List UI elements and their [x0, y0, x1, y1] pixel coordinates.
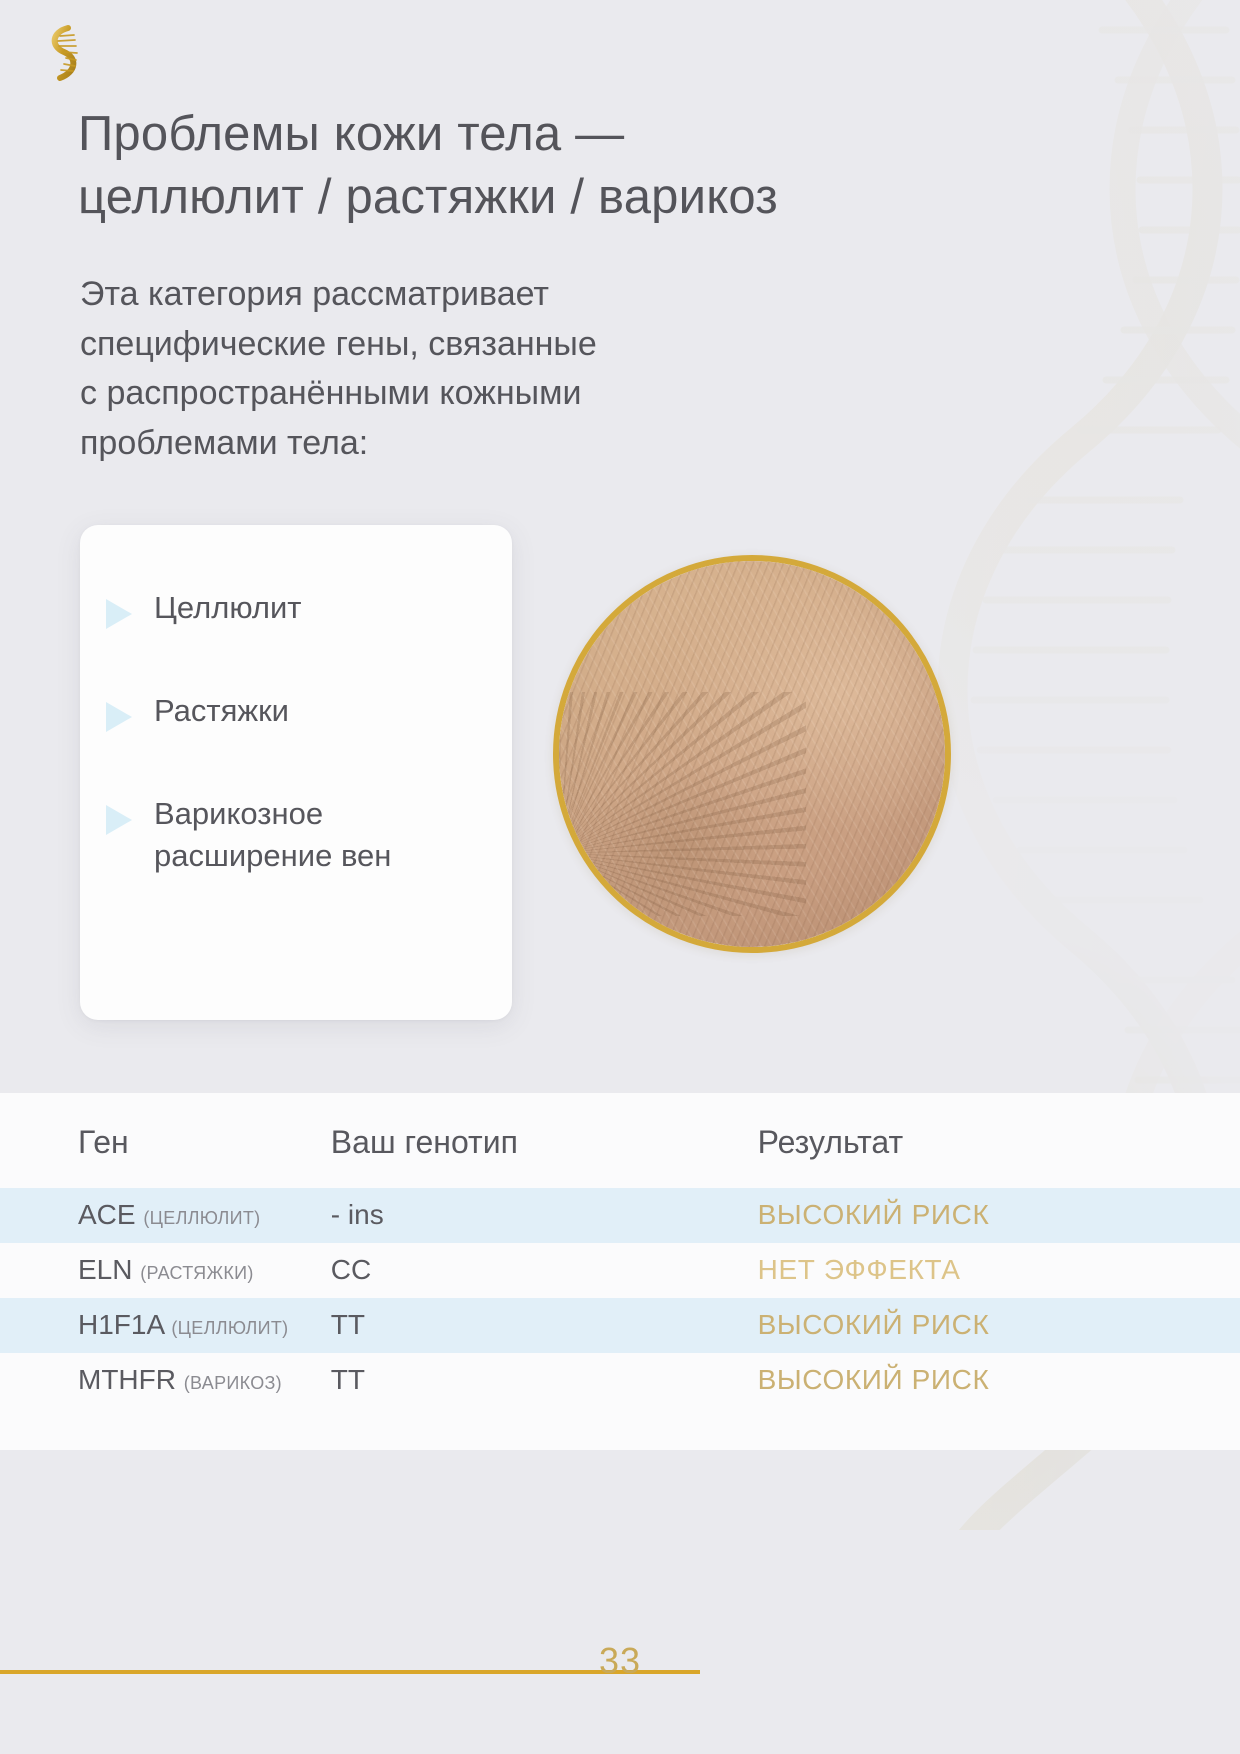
gene-note: (ВАРИКОЗ): [184, 1373, 282, 1393]
table-header-row: Ген Ваш генотип Результат: [0, 1093, 1240, 1188]
cell-gene: MTHFR (ВАРИКОЗ): [0, 1353, 331, 1408]
conditions-card: Целлюлит Растяжки Варикозное расширение …: [80, 525, 512, 1020]
result-badge: ВЫСОКИЙ РИСК: [758, 1309, 990, 1340]
table-row: ACE (ЦЕЛЛЮЛИТ) - ins ВЫСОКИЙ РИСК: [0, 1188, 1240, 1243]
intro-line-3: с распространёнными кожными: [80, 374, 581, 412]
result-badge: ВЫСОКИЙ РИСК: [758, 1199, 990, 1230]
list-item: Варикозное расширение вен: [106, 793, 478, 879]
cell-gene: H1F1A (ЦЕЛЛЮЛИТ): [0, 1298, 331, 1353]
gene-name: ACE: [78, 1199, 136, 1230]
cell-genotype: - ins: [331, 1188, 758, 1243]
page-number: 33: [0, 1640, 1240, 1682]
gene-name: MTHFR: [78, 1364, 176, 1395]
gene-note: (ЦЕЛЛЮЛИТ): [171, 1318, 288, 1338]
intro-line-1: Эта категория рассматривает: [80, 275, 549, 313]
result-badge: ВЫСОКИЙ РИСК: [758, 1364, 990, 1395]
gene-results-table: Ген Ваш генотип Результат ACE (ЦЕЛЛЮЛИТ)…: [0, 1093, 1240, 1408]
photo-vignette: [559, 561, 945, 947]
gene-note: (РАСТЯЖКИ): [140, 1263, 253, 1283]
cell-gene: ACE (ЦЕЛЛЮЛИТ): [0, 1188, 331, 1243]
list-item: Растяжки: [106, 690, 478, 733]
list-item-label: Варикозное расширение вен: [154, 793, 478, 879]
list-item-label: Растяжки: [154, 690, 289, 733]
cell-gene: ELN (РАСТЯЖКИ): [0, 1243, 331, 1298]
gene-note: (ЦЕЛЛЮЛИТ): [143, 1208, 260, 1228]
cell-result: ВЫСОКИЙ РИСК: [758, 1353, 1240, 1408]
intro-paragraph: Эта категория рассматривает специфически…: [80, 270, 800, 469]
cell-result: ВЫСОКИЙ РИСК: [758, 1188, 1240, 1243]
page-title-line-1: Проблемы кожи тела —: [78, 107, 624, 161]
column-header-result: Результат: [758, 1093, 1240, 1188]
triangle-bullet-icon: [106, 805, 132, 835]
table-bottom-padding: [0, 1408, 1240, 1450]
conditions-list: Целлюлит Растяжки Варикозное расширение …: [106, 587, 478, 878]
cell-result: ВЫСОКИЙ РИСК: [758, 1298, 1240, 1353]
gene-name: H1F1A: [78, 1309, 164, 1340]
table-header: Ген Ваш генотип Результат: [0, 1093, 1240, 1188]
list-item: Целлюлит: [106, 587, 478, 630]
triangle-bullet-icon: [106, 599, 132, 629]
table-row: ELN (РАСТЯЖКИ) CC НЕТ ЭФФЕКТА: [0, 1243, 1240, 1298]
cell-genotype: TT: [331, 1298, 758, 1353]
column-header-genotype: Ваш генотип: [331, 1093, 758, 1188]
table-row: H1F1A (ЦЕЛЛЮЛИТ) TT ВЫСОКИЙ РИСК: [0, 1298, 1240, 1353]
table-row: MTHFR (ВАРИКОЗ) TT ВЫСОКИЙ РИСК: [0, 1353, 1240, 1408]
skin-condition-photo: [553, 555, 951, 953]
table-body: ACE (ЦЕЛЛЮЛИТ) - ins ВЫСОКИЙ РИСК ELN (Р…: [0, 1188, 1240, 1408]
cell-genotype: TT: [331, 1353, 758, 1408]
gene-results-section: Ген Ваш генотип Результат ACE (ЦЕЛЛЮЛИТ)…: [0, 1093, 1240, 1450]
column-header-gene: Ген: [0, 1093, 331, 1188]
result-badge: НЕТ ЭФФЕКТА: [758, 1254, 961, 1285]
list-item-label: Целлюлит: [154, 587, 302, 630]
triangle-bullet-icon: [106, 702, 132, 732]
page-title-line-2: целлюлит / растяжки / варикоз: [78, 170, 778, 224]
intro-line-2: специфические гены, связанные: [80, 325, 597, 363]
page-title: Проблемы кожи тела — целлюлит / растяжки…: [78, 103, 958, 228]
cell-result: НЕТ ЭФФЕКТА: [758, 1243, 1240, 1298]
dna-helix-logo: [34, 22, 92, 84]
gene-name: ELN: [78, 1254, 132, 1285]
cell-genotype: CC: [331, 1243, 758, 1298]
intro-line-4: проблемами тела:: [80, 424, 368, 462]
